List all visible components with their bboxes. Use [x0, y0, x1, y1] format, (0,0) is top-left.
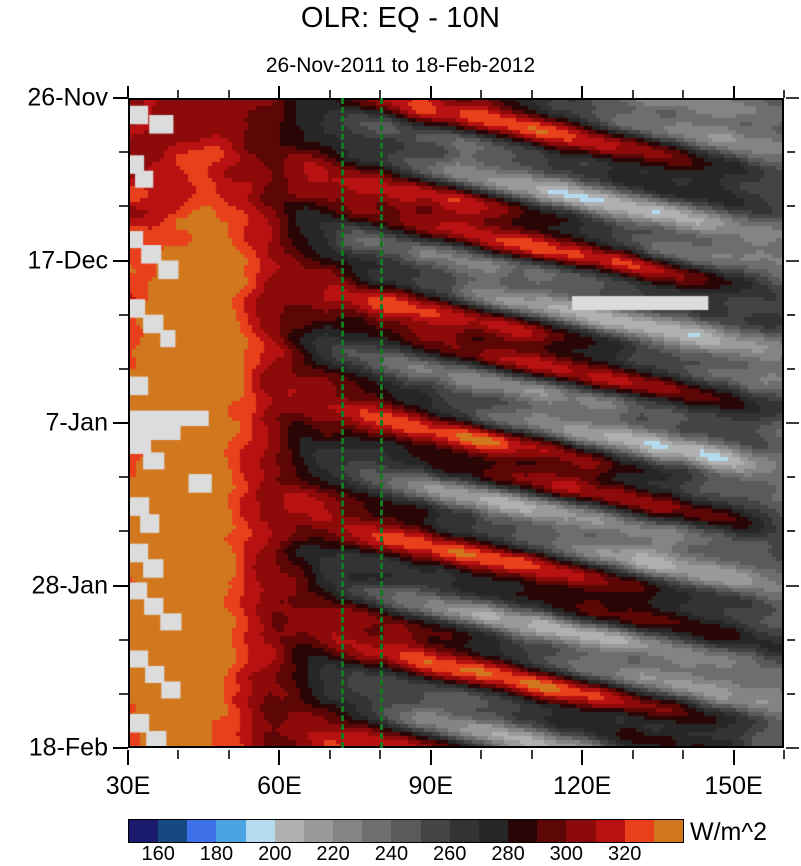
- y-tick-minor: [119, 693, 128, 695]
- colorbar-swatch[interactable]: [596, 820, 625, 842]
- x-tick-top: [733, 86, 735, 98]
- y-tick-major: [113, 260, 128, 262]
- colorbar-swatch[interactable]: [625, 820, 654, 842]
- colorbar-unit-label: W/m^2: [690, 818, 767, 847]
- colorbar-swatch[interactable]: [508, 820, 537, 842]
- x-tick-top-minor: [329, 90, 331, 98]
- colorbar-swatch[interactable]: [129, 820, 158, 842]
- colorbar-swatch[interactable]: [187, 820, 216, 842]
- x-tick-top-minor: [379, 90, 381, 98]
- colorbar-swatch[interactable]: [158, 820, 187, 842]
- y-axis-label: 17-Dec: [0, 246, 108, 275]
- y-tick-right: [786, 422, 799, 424]
- colorbar-swatch[interactable]: [362, 820, 391, 842]
- colorbar-swatch[interactable]: [216, 820, 245, 842]
- y-tick-right: [786, 260, 799, 262]
- colorbar-swatch[interactable]: [246, 820, 275, 842]
- x-axis-label: 60E: [257, 772, 301, 801]
- x-tick-minor: [632, 750, 634, 759]
- y-tick-major: [113, 747, 128, 749]
- x-tick-top: [278, 86, 280, 98]
- y-tick-minor: [119, 639, 128, 641]
- y-tick-minor: [119, 314, 128, 316]
- x-tick-major: [733, 750, 735, 765]
- page-title: OLR: EQ - 10N: [0, 2, 801, 35]
- x-tick-top-minor: [531, 90, 533, 98]
- y-tick-minor: [119, 368, 128, 370]
- y-tick-right-minor: [787, 314, 795, 316]
- y-tick-major: [113, 97, 128, 99]
- x-tick-minor: [531, 750, 533, 759]
- colorbar-swatch[interactable]: [275, 820, 304, 842]
- colorbar-swatch[interactable]: [537, 820, 566, 842]
- x-tick-top-minor: [177, 90, 179, 98]
- x-tick-top-minor: [682, 90, 684, 98]
- y-tick-right: [786, 585, 799, 587]
- y-tick-major: [113, 585, 128, 587]
- y-tick-right: [786, 97, 799, 99]
- y-tick-right-minor: [787, 476, 795, 478]
- colorbar-swatch[interactable]: [479, 820, 508, 842]
- colorbar-swatch[interactable]: [566, 820, 595, 842]
- x-tick-major: [127, 750, 129, 765]
- y-tick-right-minor: [787, 530, 795, 532]
- y-tick-major: [113, 422, 128, 424]
- colorbar-swatch[interactable]: [391, 820, 420, 842]
- plot-area[interactable]: [128, 98, 784, 748]
- x-tick-minor: [480, 750, 482, 759]
- x-tick-minor: [228, 750, 230, 759]
- y-tick-minor: [119, 205, 128, 207]
- y-tick-right-minor: [787, 639, 795, 641]
- x-axis-label: 150E: [704, 772, 762, 801]
- x-tick-top-minor: [228, 90, 230, 98]
- x-tick-minor: [682, 750, 684, 759]
- x-tick-major: [278, 750, 280, 765]
- y-tick-minor: [119, 476, 128, 478]
- hovmoller-field: [128, 98, 784, 748]
- colorbar-swatch[interactable]: [304, 820, 333, 842]
- figure-canvas: OLR: EQ - 10N 26-Nov-2011 to 18-Feb-2012…: [0, 0, 801, 863]
- y-tick-right-minor: [787, 205, 795, 207]
- x-tick-top-minor: [480, 90, 482, 98]
- figure-subtitle: 26-Nov-2011 to 18-Feb-2012: [0, 54, 801, 78]
- y-axis-label: 18-Feb: [0, 734, 108, 763]
- x-tick-major: [581, 750, 583, 765]
- y-tick-right-minor: [787, 693, 795, 695]
- x-tick-minor: [329, 750, 331, 759]
- y-tick-minor: [119, 530, 128, 532]
- x-tick-major: [430, 750, 432, 765]
- y-axis-label: 28-Jan: [0, 571, 108, 600]
- x-tick-minor: [379, 750, 381, 759]
- x-tick-top-minor: [632, 90, 634, 98]
- y-tick-right: [786, 747, 799, 749]
- y-tick-minor: [119, 151, 128, 153]
- colorbar[interactable]: [128, 819, 684, 843]
- y-axis-label: 7-Jan: [0, 409, 108, 438]
- y-tick-right-minor: [787, 368, 795, 370]
- x-axis-label: 90E: [409, 772, 453, 801]
- x-tick-minor: [783, 750, 785, 759]
- x-tick-top: [581, 86, 583, 98]
- colorbar-swatch[interactable]: [450, 820, 479, 842]
- colorbar-swatch[interactable]: [654, 820, 683, 842]
- x-tick-top: [430, 86, 432, 98]
- x-axis-label: 30E: [106, 772, 150, 801]
- colorbar-swatch[interactable]: [421, 820, 450, 842]
- x-tick-top-minor: [783, 90, 785, 98]
- y-tick-right-minor: [787, 151, 795, 153]
- x-axis-label: 120E: [553, 772, 611, 801]
- x-tick-minor: [177, 750, 179, 759]
- y-axis-label: 26-Nov: [0, 84, 108, 113]
- colorbar-swatch[interactable]: [333, 820, 362, 842]
